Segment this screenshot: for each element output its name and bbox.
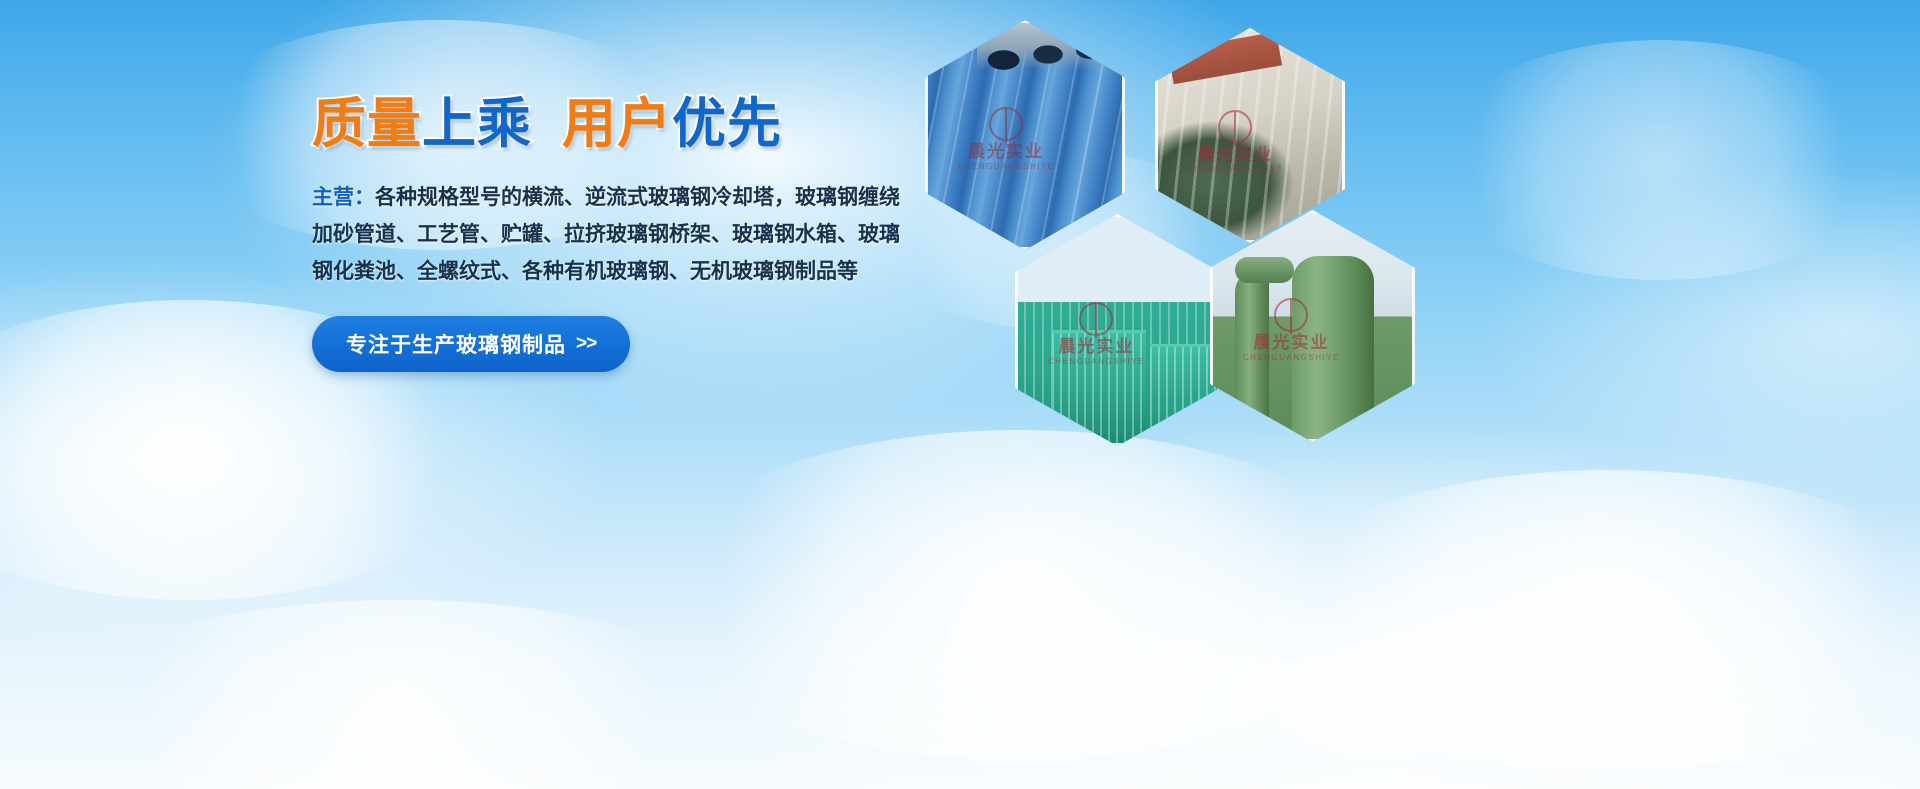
collage-tile-green-cooling-towers[interactable]: 晨光实业 CHENGUANGSHIYE bbox=[1015, 214, 1220, 446]
banner-headline: 质量上乘用户优先 bbox=[312, 96, 932, 153]
cloud-decoration bbox=[640, 430, 1400, 760]
description-body: 各种规格型号的横流、逆流式玻璃钢冷却塔，玻璃钢缠绕加砂管道、工艺管、贮罐、拉挤玻… bbox=[312, 186, 900, 283]
headline-segment-3: 用户 bbox=[562, 96, 672, 153]
hero-banner: 质量上乘用户优先 主营：各种规格型号的横流、逆流式玻璃钢冷却塔，玻璃钢缠绕加砂管… bbox=[0, 0, 1920, 789]
chevron-right-icon: >> bbox=[576, 333, 596, 355]
cloud-decoration bbox=[60, 600, 740, 789]
description-lead-label: 主营： bbox=[312, 186, 375, 209]
cloud-decoration bbox=[1430, 40, 1890, 280]
collage-tile-grey-frp-pipe[interactable]: 晨光实业 CHENGUANGSHIYE bbox=[1155, 28, 1345, 243]
cooling-tower-shape bbox=[1052, 330, 1146, 446]
product-image-collage: 晨光实业 CHENGUANGSHIYE 晨光实业 CHENGUANGSHIYE … bbox=[920, 14, 1440, 404]
cta-label: 专注于生产玻璃钢制品 bbox=[346, 329, 566, 359]
headline-segment-1: 质量 bbox=[312, 96, 422, 153]
banner-description: 主营：各种规格型号的横流、逆流式玻璃钢冷却塔，玻璃钢缠绕加砂管道、工艺管、贮罐、… bbox=[312, 179, 912, 290]
headline-segment-2: 上乘 bbox=[422, 96, 532, 153]
headline-segment-4: 优先 bbox=[672, 96, 782, 153]
cloud-decoration bbox=[1250, 470, 1920, 770]
cooling-tower-shape bbox=[1150, 344, 1220, 446]
cta-button[interactable]: 专注于生产玻璃钢制品 >> bbox=[312, 316, 630, 372]
banner-copy-block: 质量上乘用户优先 主营：各种规格型号的横流、逆流式玻璃钢冷却塔，玻璃钢缠绕加砂管… bbox=[312, 96, 932, 372]
pipe-openings bbox=[977, 20, 1125, 89]
scrubber-vessel-shape bbox=[1292, 256, 1374, 442]
collage-tile-green-scrubber-tower[interactable]: 晨光实业 CHENGUANGSHIYE bbox=[1210, 210, 1415, 442]
collage-tile-blue-frp-pipes[interactable]: 晨光实业 CHENGUANGSHIYE bbox=[925, 20, 1125, 250]
scrubber-duct-shape bbox=[1235, 270, 1270, 442]
